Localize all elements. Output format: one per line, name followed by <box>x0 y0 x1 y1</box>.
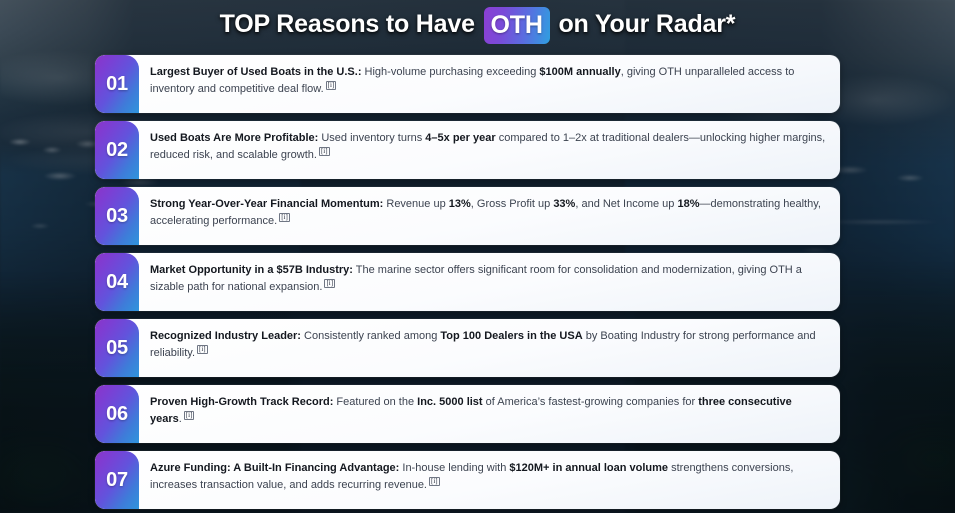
reason-card: 06Proven High-Growth Track Record: Featu… <box>95 385 840 443</box>
reason-headline: Proven High-Growth Track Record: <box>150 396 333 408</box>
oth-brand-badge: OTH <box>484 7 550 44</box>
page-title: TOP Reasons to Have OTH on Your Radar* <box>0 6 955 43</box>
reason-text: Recognized Industry Leader: Consistently… <box>139 319 840 377</box>
reason-headline: Strong Year-Over-Year Financial Momentum… <box>150 198 383 210</box>
reason-headline: Market Opportunity in a $57B Industry: <box>150 264 353 276</box>
reason-card: 07Azure Funding: A Built-In Financing Ad… <box>95 451 840 509</box>
reason-body-text: Used inventory turns <box>318 132 425 144</box>
reason-body-text: Revenue up <box>383 198 448 210</box>
reason-text: Used Boats Are More Profitable: Used inv… <box>139 121 840 179</box>
reason-number-label: 01 <box>106 73 128 96</box>
reason-number-label: 04 <box>106 271 128 294</box>
slide-content: TOP Reasons to Have OTH on Your Radar* 0… <box>0 0 955 513</box>
reason-body-text: . <box>179 413 182 425</box>
title-part-after: on Your Radar* <box>558 10 735 38</box>
reason-number-badge: 01 <box>95 55 139 113</box>
reason-text: Largest Buyer of Used Boats in the U.S.:… <box>139 55 840 113</box>
reason-emphasis: 4–5x per year <box>425 132 495 144</box>
citation-marker[interactable]: [i] <box>184 411 195 420</box>
citation-marker[interactable]: [i] <box>324 279 335 288</box>
reason-number-label: 05 <box>106 337 128 360</box>
reason-number-badge: 07 <box>95 451 139 509</box>
reason-emphasis: $100M annually <box>539 66 620 78</box>
citation-marker[interactable]: [i] <box>197 345 208 354</box>
reason-number-label: 06 <box>106 403 128 426</box>
reason-emphasis: Inc. 5000 list <box>417 396 482 408</box>
title-part-before: TOP Reasons to Have <box>220 10 475 38</box>
reason-text: Market Opportunity in a $57B Industry: T… <box>139 253 840 311</box>
reason-body-text: Consistently ranked among <box>301 330 440 342</box>
reason-number-label: 03 <box>106 205 128 228</box>
slide-root: TOP Reasons to Have OTH on Your Radar* 0… <box>0 0 955 513</box>
reason-text: Proven High-Growth Track Record: Feature… <box>139 385 840 443</box>
reason-emphasis: 33% <box>553 198 575 210</box>
reason-text: Strong Year-Over-Year Financial Momentum… <box>139 187 840 245</box>
reason-emphasis: Top 100 Dealers in the USA <box>440 330 582 342</box>
reason-number-badge: 06 <box>95 385 139 443</box>
reason-number-badge: 02 <box>95 121 139 179</box>
reason-headline: Azure Funding: A Built-In Financing Adva… <box>150 462 399 474</box>
citation-marker[interactable]: [i] <box>319 147 330 156</box>
reason-number-badge: 04 <box>95 253 139 311</box>
reason-headline: Used Boats Are More Profitable: <box>150 132 318 144</box>
reason-body-text: , Gross Profit up <box>471 198 554 210</box>
reason-card: 01Largest Buyer of Used Boats in the U.S… <box>95 55 840 113</box>
reason-card: 05Recognized Industry Leader: Consistent… <box>95 319 840 377</box>
citation-marker[interactable]: [i] <box>429 477 440 486</box>
reason-number-badge: 05 <box>95 319 139 377</box>
reason-emphasis: 18% <box>677 198 699 210</box>
reason-number-badge: 03 <box>95 187 139 245</box>
reason-number-label: 02 <box>106 139 128 162</box>
reason-headline: Largest Buyer of Used Boats in the U.S.: <box>150 66 361 78</box>
citation-marker[interactable]: [i] <box>326 81 337 90</box>
reason-card: 03Strong Year-Over-Year Financial Moment… <box>95 187 840 245</box>
reason-body-text: , and Net Income up <box>575 198 677 210</box>
reason-emphasis: $120M+ in annual loan volume <box>509 462 668 474</box>
page-title-text: TOP Reasons to Have OTH on Your Radar* <box>220 6 736 43</box>
reason-body-text: of America’s fastest-growing companies f… <box>483 396 699 408</box>
reason-headline: Recognized Industry Leader: <box>150 330 301 342</box>
reason-emphasis: 13% <box>449 198 471 210</box>
reason-body-text: In-house lending with <box>399 462 509 474</box>
reason-body-text: High-volume purchasing exceeding <box>361 66 539 78</box>
reason-card: 02Used Boats Are More Profitable: Used i… <box>95 121 840 179</box>
reason-body-text: Featured on the <box>333 396 417 408</box>
reason-number-label: 07 <box>106 469 128 492</box>
reasons-list: 01Largest Buyer of Used Boats in the U.S… <box>95 55 840 513</box>
citation-marker[interactable]: [i] <box>279 213 290 222</box>
reason-card: 04Market Opportunity in a $57B Industry:… <box>95 253 840 311</box>
reason-text: Azure Funding: A Built-In Financing Adva… <box>139 451 840 509</box>
